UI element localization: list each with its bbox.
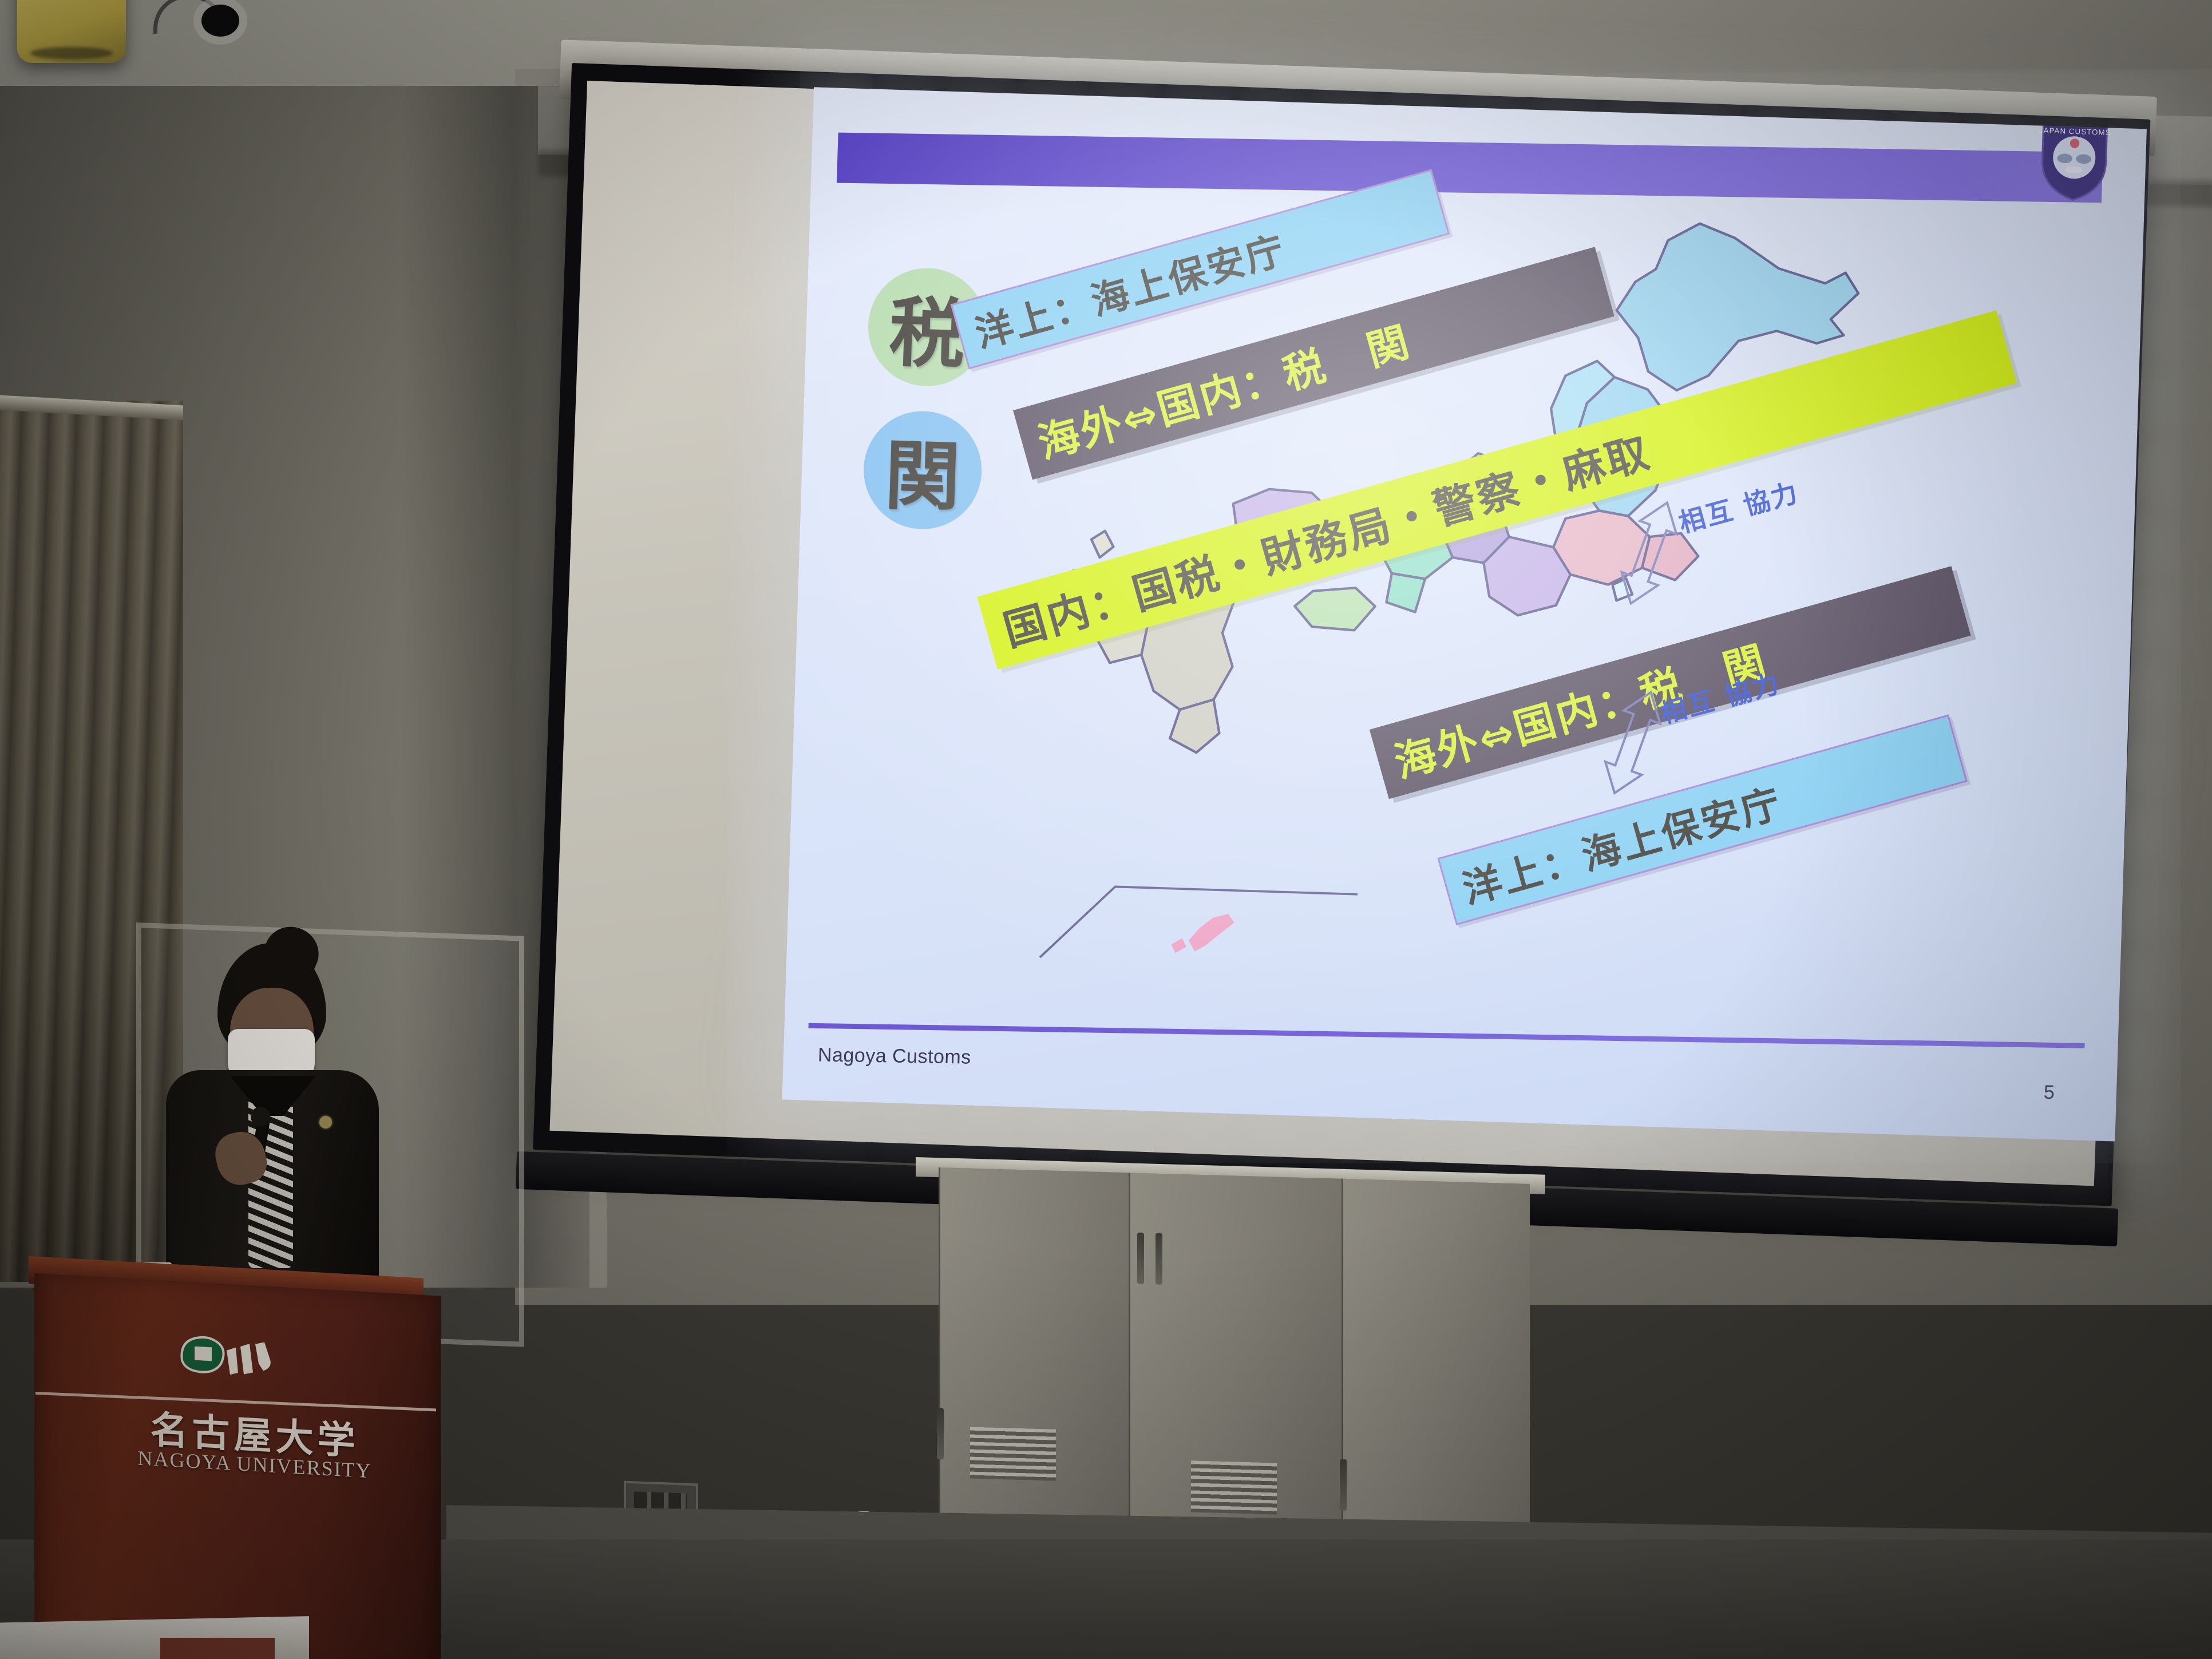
nagoya-university-logo-icon [172, 1324, 286, 1388]
projected-slide: JAPAN CUSTOMS [782, 87, 2147, 1141]
foreground-table-item [160, 1638, 275, 1659]
slide-page-number: 5 [2043, 1082, 2055, 1104]
japan-customs-logo-icon: JAPAN CUSTOMS [2037, 119, 2111, 204]
cabinet-handle[interactable] [1156, 1233, 1162, 1285]
okinawa-inset [1030, 876, 1370, 972]
projection-screen: JAPAN CUSTOMS [531, 50, 2168, 1257]
microphone-head-icon [251, 1107, 270, 1126]
cabinet-vent-icon [1191, 1460, 1277, 1514]
badge-circle-kan: 関 [862, 409, 983, 530]
ceiling-light-icon [17, 0, 126, 63]
slide-footer-brand: Nagoya Customs [817, 1044, 971, 1068]
cabinet-vent-icon [970, 1427, 1056, 1481]
cabinet-handle[interactable] [1137, 1233, 1144, 1284]
cabinet-handle[interactable] [1340, 1459, 1347, 1511]
screen-surface: JAPAN CUSTOMS [549, 81, 2131, 1186]
cabinet-door-right[interactable] [1342, 1179, 1530, 1538]
lecture-hall-photo: JAPAN CUSTOMS [0, 0, 2212, 1659]
lapel-pin-icon [319, 1116, 332, 1129]
badge-circle-zei-label: 税 [888, 271, 967, 383]
presenter [150, 943, 390, 1298]
wall-cabinets [939, 1167, 1528, 1550]
screen-black-border: JAPAN CUSTOMS [533, 63, 2150, 1206]
cabinet-door-left[interactable] [939, 1167, 1129, 1526]
cabinet-handle[interactable] [937, 1408, 944, 1459]
cabinet-door-middle[interactable] [1129, 1173, 1342, 1532]
badge-circle-kan-label: 関 [883, 414, 962, 526]
ceiling-sensor-icon [201, 5, 239, 37]
